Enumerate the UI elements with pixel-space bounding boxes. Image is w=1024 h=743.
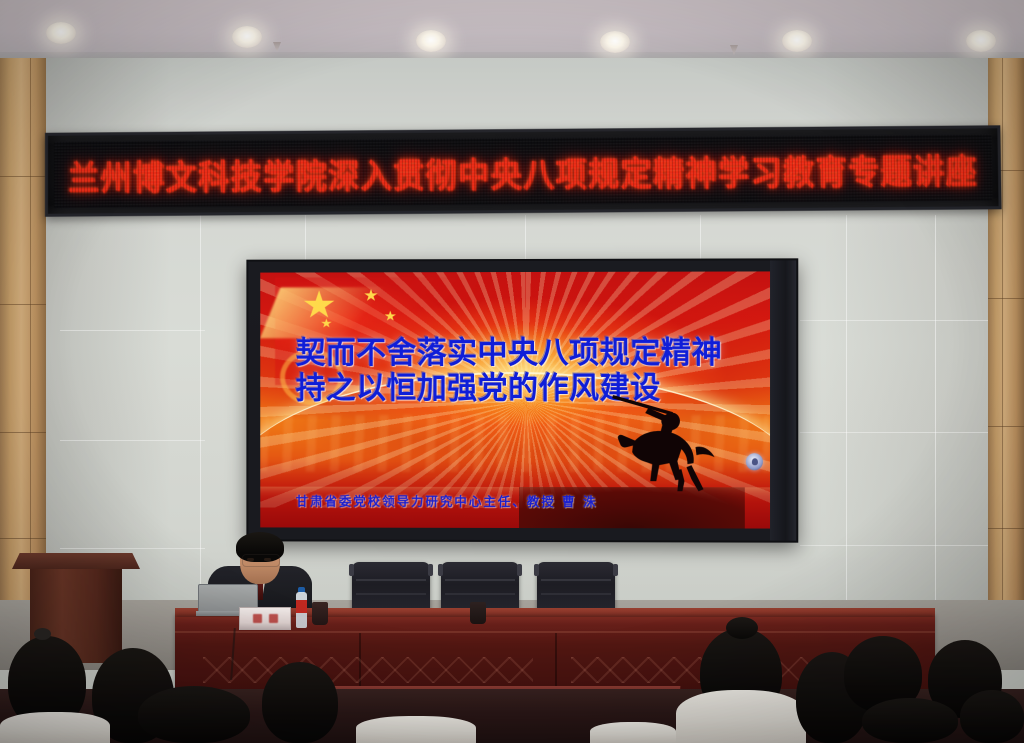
stage-chair: [352, 562, 430, 612]
audience-hoodie: [676, 690, 806, 743]
drinking-cup: [312, 602, 328, 625]
water-bottle: [296, 592, 307, 628]
ceiling-downlight: [782, 30, 812, 52]
ceiling-downlight: [416, 30, 446, 52]
lecture-hall-photo: 兰州博文科技学院深入贯彻中央八项规定精神学习教育专题讲座 契而不舍落实中央八项规…: [0, 0, 1024, 743]
stage-chair: [537, 562, 615, 612]
screen-bezel-right: [770, 260, 796, 540]
wall-tile-line: [800, 545, 1000, 546]
speaker-nameplate: [239, 607, 291, 630]
led-banner-panel: 兰州博文科技学院深入贯彻中央八项规定精神学习教育专题讲座: [54, 134, 993, 207]
presentation-screen: 契而不舍落实中央八项规定精神 持之以恒加强党的作风建设: [260, 271, 770, 528]
ceiling-downlight: [600, 31, 630, 53]
table-zigzag-inlay: [203, 657, 533, 683]
audience-head: [262, 662, 338, 743]
drinking-cup: [470, 602, 486, 624]
speaker-eye-left: [247, 558, 254, 561]
ceiling-downlight: [46, 22, 76, 44]
wall-tile-line: [800, 432, 1000, 433]
lectern-top: [12, 553, 140, 569]
wall-tile-line: [60, 440, 205, 441]
wall-tile-line: [200, 215, 201, 645]
horse-rider-silhouette-icon: [603, 391, 724, 495]
presentation-screen-frame: 契而不舍落实中央八项规定精神 持之以恒加强党的作风建设: [246, 258, 798, 542]
slide-subtitle: 甘肃省委党校领导力研究中心主任、教授 曹 洙: [296, 491, 745, 511]
ceiling: [0, 0, 1024, 58]
speaker-eye-right: [264, 558, 271, 561]
screen-brand-logo-icon: [746, 453, 763, 470]
wall-tile-line: [800, 320, 1000, 321]
audience-hair-tie: [34, 628, 51, 640]
audience-shoulders: [590, 722, 676, 743]
slide-title-line1: 契而不舍落实中央八项规定精神: [296, 335, 745, 371]
wall-tile-line: [60, 330, 205, 331]
nameplate-glyph: [269, 614, 278, 623]
audience-shoulders: [0, 712, 110, 743]
led-banner-text: 兰州博文科技学院深入贯彻中央八项规定精神学习教育专题讲座: [68, 143, 978, 199]
led-banner: 兰州博文科技学院深入贯彻中央八项规定精神学习教育专题讲座: [45, 125, 1002, 216]
audience-head: [138, 686, 250, 743]
ceiling-downlight: [966, 30, 996, 52]
ceiling-downlight: [232, 26, 262, 48]
wall-tile-line: [935, 215, 936, 645]
wall-tile-line: [700, 215, 701, 260]
wall-tile-line: [525, 215, 526, 260]
wall-tile-line: [846, 215, 847, 645]
audience-head: [960, 690, 1024, 743]
audience-shoulders: [356, 716, 476, 743]
wall-tile-line: [305, 215, 306, 260]
nameplate-glyph: [253, 614, 262, 623]
audience-hair-bun: [726, 617, 758, 639]
wall-tile-line: [60, 548, 205, 549]
audience-head: [862, 698, 958, 743]
